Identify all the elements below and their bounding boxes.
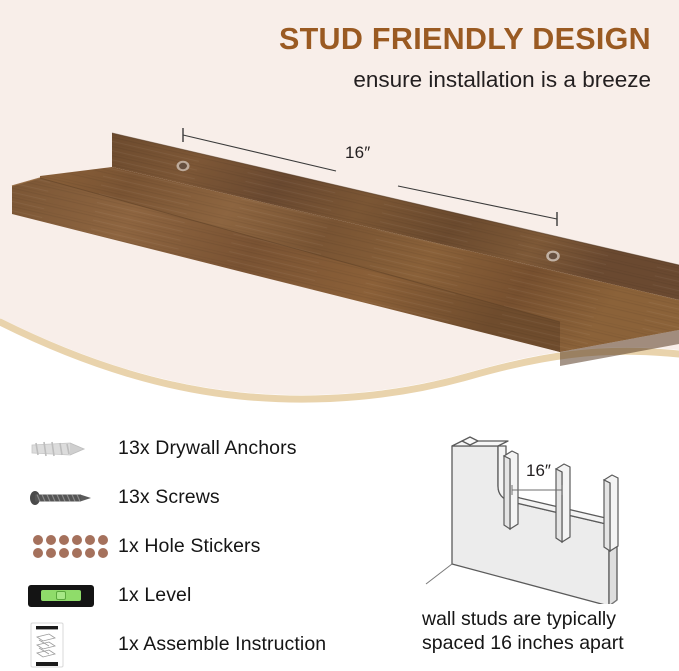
part-label: 13x Screws bbox=[118, 486, 220, 509]
page-subtitle: ensure installation is a breeze bbox=[0, 66, 651, 93]
drywall-anchor-icon bbox=[22, 437, 118, 461]
part-label: 1x Assemble Instruction bbox=[118, 633, 326, 656]
studs-caption: wall studs are typically spaced 16 inche… bbox=[422, 608, 679, 656]
hole-stickers-icon bbox=[22, 531, 118, 562]
sticker-dot bbox=[59, 548, 69, 558]
level-body bbox=[28, 585, 94, 607]
sticker-dot bbox=[85, 548, 95, 558]
level-vial bbox=[41, 590, 81, 601]
sticker-dot bbox=[72, 535, 82, 545]
wall-studs-diagram: 16″ wall studs are typically spaced 16 i… bbox=[404, 424, 679, 604]
dimension-line-left-segment bbox=[183, 135, 336, 171]
level-icon bbox=[22, 585, 118, 607]
sticker-dot bbox=[98, 535, 108, 545]
sticker-dot bbox=[59, 535, 69, 545]
sticker-dot bbox=[85, 535, 95, 545]
sticker-dot bbox=[72, 548, 82, 558]
wall-stud-3 bbox=[604, 475, 618, 551]
part-label: 13x Drywall Anchors bbox=[118, 437, 297, 460]
parts-list: 13x Drywall Anchors 13x Screws bbox=[22, 424, 392, 669]
page-title: STUD FRIENDLY DESIGN bbox=[0, 22, 651, 56]
screw-icon bbox=[22, 488, 118, 508]
sticker-dot bbox=[46, 548, 56, 558]
list-item: 1x Hole Stickers bbox=[22, 522, 392, 571]
sticker-dot bbox=[33, 535, 43, 545]
wall-studs-illustration bbox=[404, 424, 679, 604]
list-item: 1x Level bbox=[22, 571, 392, 620]
sticker-dot bbox=[33, 548, 43, 558]
dimension-line-right-segment bbox=[398, 186, 557, 219]
studs-dimension-label: 16″ bbox=[526, 461, 551, 481]
studs-caption-line-1: wall studs are typically bbox=[422, 608, 679, 632]
list-item: 13x Screws bbox=[22, 473, 392, 522]
wall-stud-2 bbox=[556, 464, 570, 542]
level-bubble bbox=[56, 591, 66, 600]
studs-caption-line-2: spaced 16 inches apart bbox=[422, 632, 679, 656]
list-item: 1x Assemble Instruction bbox=[22, 620, 392, 669]
sticker-dot bbox=[46, 535, 56, 545]
part-label: 1x Level bbox=[118, 584, 191, 607]
part-label: 1x Hole Stickers bbox=[118, 535, 260, 558]
sticker-dot bbox=[98, 548, 108, 558]
shelf-dimension-label: 16″ bbox=[345, 143, 371, 163]
instruction-sheet-icon bbox=[22, 621, 118, 669]
studs-dimension-line bbox=[512, 485, 562, 495]
infographic-page: STUD FRIENDLY DESIGN ensure installation… bbox=[0, 0, 679, 671]
list-item: 13x Drywall Anchors bbox=[22, 424, 392, 473]
title-block: STUD FRIENDLY DESIGN ensure installation… bbox=[0, 22, 679, 93]
sticker-sheet bbox=[28, 531, 113, 562]
